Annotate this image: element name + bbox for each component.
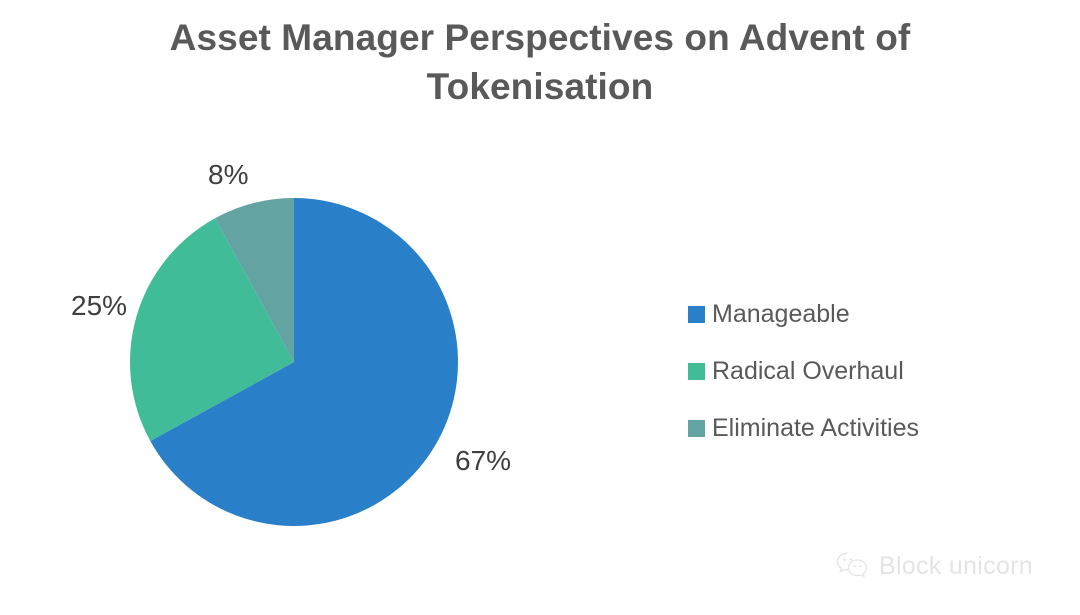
- pie-chart-svg: [130, 198, 458, 526]
- legend-label-eliminate-activities: Eliminate Activities: [712, 416, 919, 441]
- wechat-icon: [836, 551, 870, 581]
- chart-canvas: Asset Manager Perspectives on Advent of …: [0, 0, 1080, 615]
- pie-chart: [130, 198, 458, 526]
- legend-label-radical-overhaul: Radical Overhaul: [712, 359, 904, 384]
- chart-legend: Manageable Radical Overhaul Eliminate Ac…: [688, 286, 919, 457]
- legend-swatch-icon-manageable: [688, 306, 705, 323]
- watermark: Block unicorn: [836, 551, 1033, 581]
- chart-title-line-2: Tokenisation: [427, 66, 654, 107]
- legend-item-radical-overhaul[interactable]: Radical Overhaul: [688, 343, 919, 400]
- legend-item-eliminate-activities[interactable]: Eliminate Activities: [688, 400, 919, 457]
- legend-swatch-icon-radical-overhaul: [688, 363, 705, 380]
- chart-title: Asset Manager Perspectives on Advent of …: [90, 14, 990, 112]
- pie-slice-label-eliminate-activities: 8%: [208, 161, 248, 189]
- legend-swatch-icon-eliminate-activities: [688, 420, 705, 437]
- pie-slice-label-radical-overhaul: 25%: [71, 292, 127, 320]
- legend-label-manageable: Manageable: [712, 302, 850, 327]
- pie-slice-label-manageable: 67%: [455, 447, 511, 475]
- chart-title-line-1: Asset Manager Perspectives on Advent of: [170, 17, 911, 58]
- legend-item-manageable[interactable]: Manageable: [688, 286, 919, 343]
- watermark-label: Block unicorn: [879, 554, 1033, 579]
